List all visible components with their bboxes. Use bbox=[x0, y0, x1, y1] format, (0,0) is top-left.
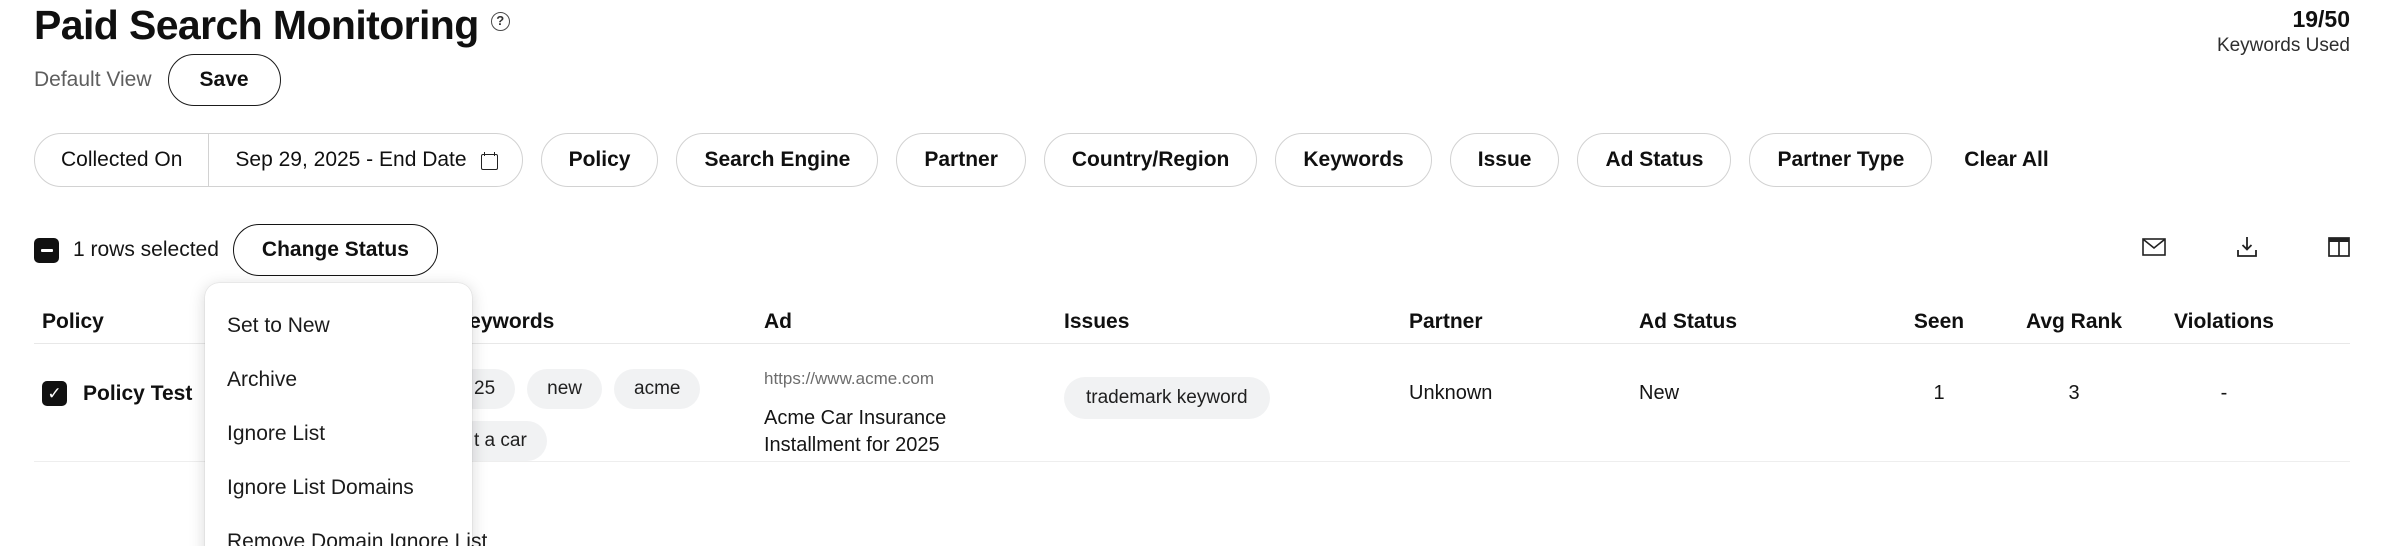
keyword-chip: acme bbox=[614, 369, 700, 409]
cell-seen: 1 bbox=[1874, 369, 2004, 405]
select-all-checkbox[interactable] bbox=[34, 238, 59, 263]
menu-item-ignore-list[interactable]: Ignore List bbox=[205, 407, 472, 461]
menu-item-set-to-new[interactable]: Set to New bbox=[205, 299, 472, 353]
collected-on-label: Collected On bbox=[35, 134, 209, 186]
cell-issues: trademark keyword bbox=[1064, 369, 1409, 419]
filter-chip-issue[interactable]: Issue bbox=[1450, 133, 1560, 187]
menu-item-remove-domain-ignore-list[interactable]: Remove Domain Ignore List bbox=[205, 515, 472, 546]
change-status-button[interactable]: Change Status bbox=[233, 224, 438, 276]
column-header-violations[interactable]: Violations bbox=[2144, 310, 2304, 334]
columns-icon[interactable] bbox=[2328, 237, 2350, 257]
cell-keywords: 25 new acme t a car bbox=[454, 369, 764, 461]
table-tool-icons bbox=[2142, 236, 2350, 258]
filter-chip-partner[interactable]: Partner bbox=[896, 133, 1026, 187]
collected-on-value-wrap[interactable]: Sep 29, 2025 - End Date bbox=[209, 134, 521, 186]
filter-chip-ad-status[interactable]: Ad Status bbox=[1577, 133, 1731, 187]
column-header-ad-status[interactable]: Ad Status bbox=[1639, 310, 1874, 334]
filter-chip-policy[interactable]: Policy bbox=[541, 133, 659, 187]
view-row: Default View Save bbox=[34, 54, 281, 106]
menu-item-archive[interactable]: Archive bbox=[205, 353, 472, 407]
column-header-ad[interactable]: Ad bbox=[764, 310, 1064, 334]
cell-violations: - bbox=[2144, 369, 2304, 405]
column-header-partner[interactable]: Partner bbox=[1409, 310, 1639, 334]
collected-on-filter[interactable]: Collected On Sep 29, 2025 - End Date bbox=[34, 133, 523, 187]
change-status-menu: Set to New Archive Ignore List Ignore Li… bbox=[205, 283, 472, 546]
save-button[interactable]: Save bbox=[168, 54, 281, 106]
page-header: Paid Search Monitoring? Default View Sav… bbox=[0, 0, 2384, 115]
keywords-count: 19/50 bbox=[2217, 6, 2350, 32]
filter-chip-keywords[interactable]: Keywords bbox=[1275, 133, 1431, 187]
paid-search-monitoring-page: Paid Search Monitoring? Default View Sav… bbox=[0, 0, 2384, 546]
view-name-label: Default View bbox=[34, 68, 152, 92]
calendar-icon bbox=[481, 152, 496, 168]
rows-selected-label: 1 rows selected bbox=[73, 238, 219, 262]
selection-toolbar: 1 rows selected Change Status bbox=[34, 224, 438, 276]
title-block: Paid Search Monitoring? bbox=[34, 2, 510, 48]
column-header-seen[interactable]: Seen bbox=[1874, 310, 2004, 334]
filter-chip-search-engine[interactable]: Search Engine bbox=[676, 133, 878, 187]
ad-url[interactable]: https://www.acme.com bbox=[764, 369, 1064, 389]
ad-title: Acme Car Insurance Installment for 2025 bbox=[764, 405, 1024, 459]
policy-name: Policy Test bbox=[83, 382, 192, 406]
filter-chip-partner-type[interactable]: Partner Type bbox=[1749, 133, 1932, 187]
column-header-avg-rank[interactable]: Avg Rank bbox=[2004, 310, 2144, 334]
keywords-used-label: Keywords Used bbox=[2217, 34, 2350, 58]
email-icon[interactable] bbox=[2142, 238, 2166, 256]
filter-bar: Collected On Sep 29, 2025 - End Date Pol… bbox=[34, 130, 2055, 190]
keywords-usage: 19/50 Keywords Used bbox=[2217, 6, 2350, 58]
help-circle-icon[interactable]: ? bbox=[491, 12, 510, 31]
keyword-chip: new bbox=[527, 369, 602, 409]
keyword-chip-list: 25 new acme t a car bbox=[454, 369, 754, 461]
issue-chip: trademark keyword bbox=[1064, 377, 1270, 419]
menu-item-ignore-list-domains[interactable]: Ignore List Domains bbox=[205, 461, 472, 515]
column-header-keywords[interactable]: Keywords bbox=[454, 310, 764, 334]
collected-on-value: Sep 29, 2025 - End Date bbox=[235, 148, 466, 172]
clear-all-button[interactable]: Clear All bbox=[1958, 134, 2054, 186]
filter-chip-country-region[interactable]: Country/Region bbox=[1044, 133, 1258, 187]
column-header-issues[interactable]: Issues bbox=[1064, 310, 1409, 334]
download-icon[interactable] bbox=[2236, 236, 2258, 258]
cell-ad-status: New bbox=[1639, 369, 1874, 405]
cell-avg-rank: 3 bbox=[2004, 369, 2144, 405]
row-checkbox[interactable]: ✓ bbox=[42, 381, 67, 406]
page-title: Paid Search Monitoring bbox=[34, 2, 479, 48]
cell-partner: Unknown bbox=[1409, 369, 1639, 405]
cell-ad: https://www.acme.com Acme Car Insurance … bbox=[764, 369, 1064, 459]
